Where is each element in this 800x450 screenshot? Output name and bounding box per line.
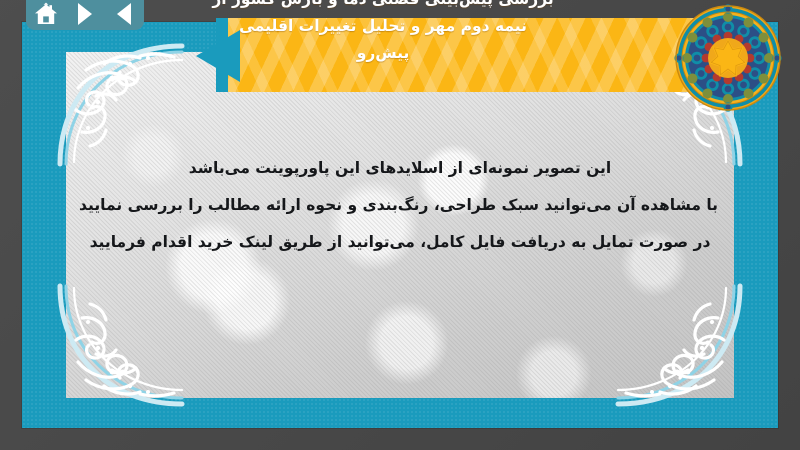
navigation-bar <box>26 0 144 30</box>
home-icon[interactable] <box>33 2 59 26</box>
body-line-2: با مشاهده آن می‌توانید سبک طراحی، رنگ‌بن… <box>82 187 718 224</box>
slide-body-text: این تصویر نمونه‌ای از اسلایدهای این پاور… <box>82 150 718 261</box>
next-arrow-icon[interactable] <box>72 2 98 26</box>
body-line-1: این تصویر نمونه‌ای از اسلایدهای این پاور… <box>82 150 718 187</box>
persian-medallion-ornament <box>674 4 782 112</box>
title-line-3: پیش‌رو <box>22 40 744 67</box>
body-line-3: در صورت تمایل به دریافت فایل کامل، می‌تو… <box>82 224 718 261</box>
prev-arrow-icon[interactable] <box>111 2 137 26</box>
slide-viewer: این تصویر نمونه‌ای از اسلایدهای این پاور… <box>0 0 800 450</box>
